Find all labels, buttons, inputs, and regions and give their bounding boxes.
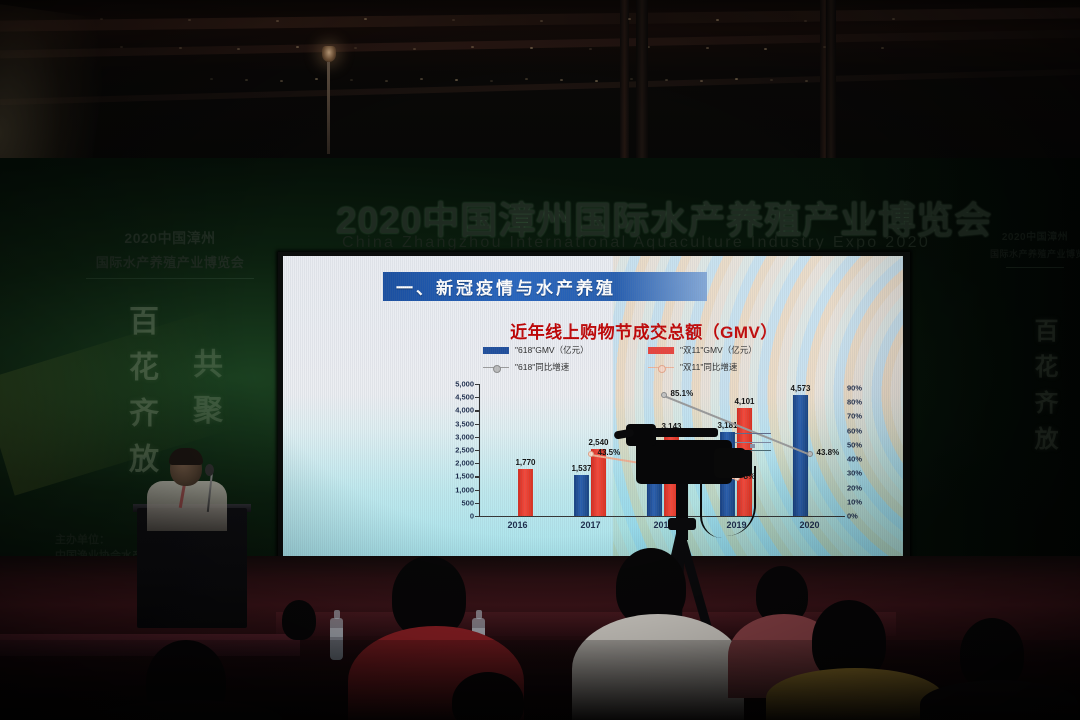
bar-value-label: 4,573 bbox=[790, 384, 810, 393]
x-axis-labels: 20162017201820192020 bbox=[480, 520, 845, 536]
hanging-lamp-icon bbox=[322, 46, 336, 62]
ceiling-light-dot bbox=[595, 80, 598, 82]
legend-swatch bbox=[648, 347, 674, 354]
side-panel-right-line1: 2020中国漳州 bbox=[990, 228, 1080, 243]
bar-value-label: 1,537 bbox=[571, 464, 591, 473]
y-axis-tick-label: 500 bbox=[461, 498, 474, 507]
calligraphy-right-1: 百花齐放 bbox=[1026, 318, 1061, 462]
y-axis-tick bbox=[475, 476, 479, 477]
ceiling-light-dot bbox=[280, 80, 283, 82]
chart-title: 近年线上购物节成交总额（GMV） bbox=[479, 318, 809, 343]
y-axis-tick bbox=[475, 450, 479, 451]
x-axis-line bbox=[479, 516, 845, 517]
y-axis-tick-label: 4,000 bbox=[455, 406, 474, 415]
legend-line-marker bbox=[483, 364, 509, 371]
ceiling-light-dot bbox=[560, 79, 563, 81]
projection-screen: 一、新冠疫情与水产养殖 近年线上购物节成交总额（GMV） "618"GMV（亿元… bbox=[283, 256, 903, 556]
ceiling-light-dot bbox=[735, 78, 738, 80]
tripod-column bbox=[676, 484, 688, 540]
y-axis-tick bbox=[475, 490, 479, 491]
x-axis-tick-label: 2016 bbox=[507, 520, 527, 530]
ceiling-light-dot bbox=[237, 48, 240, 50]
ceiling-light-dot bbox=[455, 79, 458, 81]
y2-axis-tick-label: 80% bbox=[847, 398, 862, 407]
y2-axis-tick-label: 30% bbox=[847, 469, 862, 478]
y-axis-tick bbox=[475, 437, 479, 438]
divider bbox=[86, 278, 254, 279]
y-axis-tick bbox=[475, 503, 479, 504]
y2-axis-tick-label: 60% bbox=[847, 426, 862, 435]
bar-value-label: 2,540 bbox=[588, 438, 608, 447]
y2-axis-tick-label: 10% bbox=[847, 497, 862, 506]
legend-item: "双11"GMV（亿元） bbox=[648, 344, 813, 356]
legend-label: "618"GMV（亿元） bbox=[515, 344, 589, 356]
y-axis-tick-label: 2,500 bbox=[455, 446, 474, 455]
y2-axis-tick-label: 0% bbox=[847, 512, 858, 521]
y-axis-tick bbox=[475, 424, 479, 425]
ceiling-light-dot bbox=[452, 19, 455, 21]
ceiling-lights bbox=[0, 0, 1080, 160]
y-axis-tick bbox=[475, 516, 479, 517]
ceiling-light-dot bbox=[245, 79, 248, 81]
bar bbox=[518, 469, 533, 516]
legend-label: "双11"GMV（亿元） bbox=[680, 344, 757, 356]
ceiling-light-dot bbox=[420, 78, 423, 80]
y2-axis-tick-label: 50% bbox=[847, 440, 862, 449]
growth-value-label: 85.1% bbox=[671, 389, 694, 398]
ceiling-light-dot bbox=[628, 18, 631, 20]
y-axis-tick-label: 4,500 bbox=[455, 393, 474, 402]
bar bbox=[591, 449, 606, 516]
conference-hall-photo: 2020中国漳州国际水产养殖产业博览会 China Zhangzhou Inte… bbox=[0, 0, 1080, 720]
growth-line-marker bbox=[588, 451, 594, 457]
ceiling-light-dot bbox=[716, 19, 719, 21]
growth-value-label: 43.8% bbox=[817, 448, 840, 457]
ceiling-light-dot bbox=[665, 79, 668, 81]
legend-line-marker bbox=[648, 364, 674, 371]
bar bbox=[793, 395, 808, 516]
ceiling-light-dot bbox=[350, 79, 353, 81]
y-axis-tick-label: 3,000 bbox=[455, 432, 474, 441]
y-axis-tick-label: 1,000 bbox=[455, 485, 474, 494]
lamp-rod bbox=[327, 62, 330, 154]
ceiling-light-dot bbox=[210, 78, 213, 80]
growth-line-marker bbox=[807, 451, 813, 457]
ceiling-light-dot bbox=[892, 18, 895, 20]
ceiling-light-dot bbox=[315, 78, 318, 80]
ceiling-light-dot bbox=[764, 48, 767, 50]
ceiling-light-dot bbox=[540, 20, 543, 22]
legend-swatch bbox=[483, 347, 509, 354]
calligraphy-left-1: 百花齐放 bbox=[118, 305, 162, 489]
ceiling-light-dot bbox=[805, 80, 808, 82]
legend-item: "双11"同比增速 bbox=[648, 361, 813, 373]
y-axis-tick-label: 3,500 bbox=[455, 419, 474, 428]
audience-head bbox=[282, 600, 316, 640]
ceiling-light-dot bbox=[276, 20, 279, 22]
side-panel-left: 2020中国漳州 国际水产养殖产业博览会 bbox=[70, 228, 270, 279]
microphone-icon bbox=[205, 464, 214, 476]
y-axis-tick-label: 5,000 bbox=[455, 380, 474, 389]
slide-section-titlebar: 一、新冠疫情与水产养殖 bbox=[383, 272, 707, 301]
y-axis-tick-label: 0 bbox=[470, 512, 474, 521]
legend-label: "618"同比增速 bbox=[515, 361, 569, 373]
growth-value-label: 43.5% bbox=[598, 448, 621, 457]
y-axis-tick bbox=[475, 384, 479, 385]
ceiling-light-dot bbox=[881, 47, 884, 49]
ceiling-light-dot bbox=[530, 47, 533, 49]
bar bbox=[574, 475, 589, 516]
ceiling-light-dot bbox=[188, 19, 191, 21]
y2-axis-tick-label: 40% bbox=[847, 455, 862, 464]
ceiling-light-dot bbox=[630, 78, 633, 80]
ceiling-light-dot bbox=[179, 47, 182, 49]
speaker-body bbox=[147, 481, 227, 531]
calligraphy-left-2: 共聚 bbox=[182, 348, 226, 440]
ceiling-light-dot bbox=[525, 78, 528, 80]
y2-axis-tick-label: 20% bbox=[847, 483, 862, 492]
y-axis-tick-label: 2,000 bbox=[455, 459, 474, 468]
ceiling-light-dot bbox=[471, 46, 474, 48]
growth-line-marker bbox=[661, 392, 667, 398]
chart-legend: "618"GMV（亿元）"双11"GMV（亿元）"618"同比增速"双11"同比… bbox=[483, 344, 813, 373]
speaker-hair bbox=[169, 448, 203, 465]
ceiling-light-dot bbox=[364, 18, 367, 20]
bar-group: 1,770 bbox=[501, 384, 535, 516]
side-panel-left-line2: 国际水产养殖产业博览会 bbox=[70, 252, 270, 271]
legend-label: "双11"同比增速 bbox=[680, 361, 737, 373]
ceiling-light-dot bbox=[296, 46, 299, 48]
video-camera-handle bbox=[652, 428, 718, 437]
y2-axis-tick-label: 70% bbox=[847, 412, 862, 421]
y-axis-left-labels: 05001,0001,5002,0002,5003,0003,5004,0004… bbox=[445, 384, 477, 516]
slide-section-title: 一、新冠疫情与水产养殖 bbox=[396, 274, 616, 299]
y-axis-tick bbox=[475, 463, 479, 464]
foreground-shadow bbox=[0, 640, 1080, 720]
ceiling-light-dot bbox=[770, 79, 773, 81]
y-axis-tick bbox=[475, 410, 479, 411]
banner-title-en: China Zhangzhou International Aquacultur… bbox=[336, 234, 936, 252]
ceiling-light-dot bbox=[490, 80, 493, 82]
side-panel-left-line1: 2020中国漳州 bbox=[70, 228, 270, 248]
tripod-head bbox=[668, 518, 696, 530]
ceiling-light-dot bbox=[413, 48, 416, 50]
ceiling-light-dot bbox=[706, 47, 709, 49]
legend-item: "618"GMV（亿元） bbox=[483, 344, 648, 356]
ceiling-light-dot bbox=[700, 80, 703, 82]
bar-value-label: 4,101 bbox=[734, 397, 754, 406]
side-panel-right: 2020中国漳州 国际水产养殖产业博览会 bbox=[990, 228, 1080, 268]
divider bbox=[1006, 267, 1064, 268]
ceiling-light-dot bbox=[120, 46, 123, 48]
bar-value-label: 1,770 bbox=[515, 458, 535, 467]
x-axis-tick-label: 2017 bbox=[580, 520, 600, 530]
y2-axis-tick-label: 90% bbox=[847, 383, 862, 392]
legend-item: "618"同比增速 bbox=[483, 361, 648, 373]
side-panel-right-line2: 国际水产养殖产业博览会 bbox=[990, 247, 1080, 260]
y-axis-tick-label: 1,500 bbox=[455, 472, 474, 481]
y-axis-tick bbox=[475, 397, 479, 398]
ceiling-light-dot bbox=[804, 20, 807, 22]
ceiling-light-dot bbox=[385, 80, 388, 82]
ceiling-light-dot bbox=[589, 48, 592, 50]
ceiling bbox=[0, 0, 1080, 160]
ceiling-light-dot bbox=[354, 47, 357, 49]
x-axis-tick-label: 2020 bbox=[799, 520, 819, 530]
